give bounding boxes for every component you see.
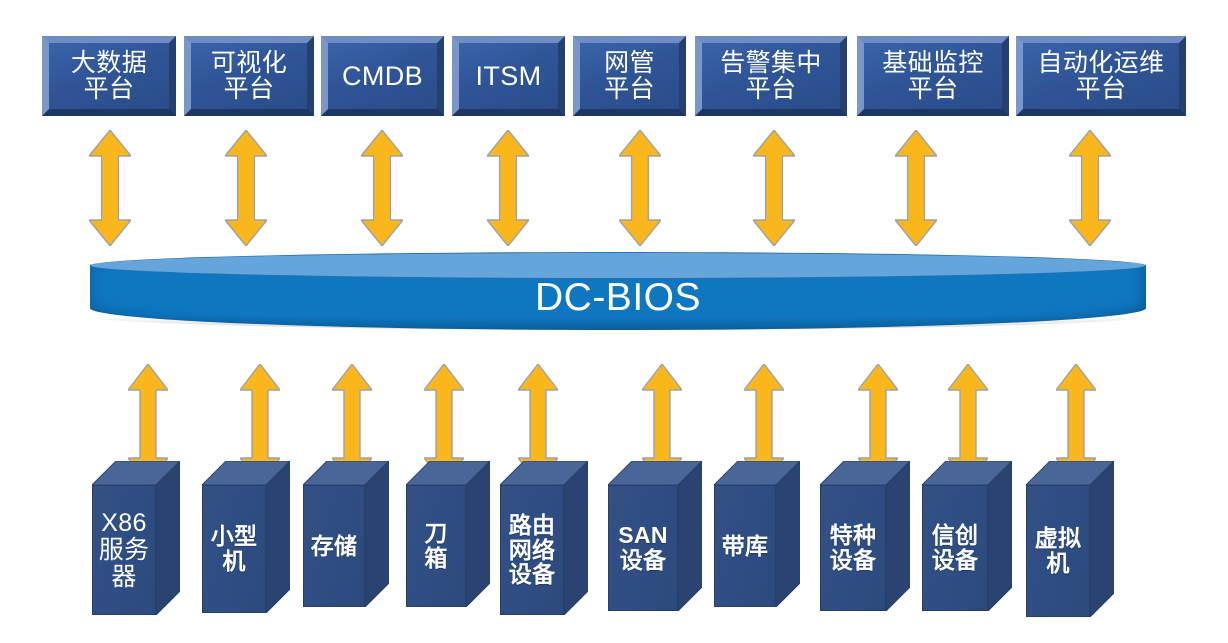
- resource-box-minicomputer[interactable]: 小型 机: [202, 461, 290, 613]
- upper-double-arrow-2: [225, 130, 267, 246]
- platform-box-label: 可视化 平台: [191, 43, 307, 109]
- resource-box-label: X86 服务 器: [92, 485, 156, 615]
- platform-box-label: 告警集中 平台: [702, 43, 840, 109]
- platform-box-cmdb[interactable]: CMDB: [321, 36, 444, 116]
- resource-box-blade-chassis[interactable]: 刀 箱: [406, 461, 490, 607]
- platform-box-alarm-centralization-platform[interactable]: 告警集中 平台: [695, 36, 847, 116]
- resource-box-special-device[interactable]: 特种 设备: [820, 461, 910, 611]
- platform-box-label: 网管 平台: [580, 43, 679, 109]
- resource-box-san-device[interactable]: SAN 设备: [608, 461, 702, 611]
- platform-box-infrastructure-monitoring-platform[interactable]: 基础监控 平台: [857, 36, 1009, 116]
- upper-double-arrow-7: [895, 130, 937, 246]
- resource-box-storage[interactable]: 存储: [303, 461, 389, 607]
- platform-box-label: 基础监控 平台: [864, 43, 1002, 109]
- upper-double-arrow-4: [487, 130, 529, 246]
- upper-double-arrow-3: [361, 130, 403, 246]
- dc-bios-label: DC-BIOS: [90, 265, 1146, 330]
- resource-box-label: 路由 网络 设备: [500, 485, 564, 615]
- platform-box-label: 自动化运维 平台: [1023, 43, 1179, 109]
- resource-box-tape-library[interactable]: 带库: [714, 461, 800, 607]
- resource-box-routing-network-device[interactable]: 路由 网络 设备: [500, 461, 588, 615]
- platform-box-visualization-platform[interactable]: 可视化 平台: [184, 36, 314, 116]
- upper-double-arrow-5: [619, 130, 661, 246]
- platform-box-automated-operations-platform[interactable]: 自动化运维 平台: [1016, 36, 1186, 116]
- platform-box-label: CMDB: [328, 43, 437, 109]
- dc-bios-cylinder[interactable]: DC-BIOS: [90, 252, 1146, 338]
- resource-box-label: 特种 设备: [820, 485, 886, 611]
- resource-box-xinchuang-device[interactable]: 信创 设备: [922, 461, 1012, 611]
- platform-box-itsm[interactable]: ITSM: [452, 36, 565, 116]
- upper-double-arrow-6: [753, 130, 795, 246]
- upper-double-arrow-8: [1069, 130, 1111, 246]
- resource-box-label: SAN 设备: [608, 485, 678, 611]
- resource-box-label: 虚拟 机: [1026, 485, 1090, 617]
- resource-box-label: 信创 设备: [922, 485, 988, 611]
- diagram-canvas: 大数据 平台可视化 平台CMDBITSM网管 平台告警集中 平台基础监控 平台自…: [0, 0, 1228, 643]
- resource-box-label: 刀 箱: [406, 485, 466, 607]
- resource-box-label: 小型 机: [202, 485, 266, 613]
- resource-box-label: 存储: [303, 485, 365, 607]
- platform-box-big-data-platform[interactable]: 大数据 平台: [42, 36, 176, 116]
- platform-box-network-management-platform[interactable]: 网管 平台: [573, 36, 686, 116]
- platform-box-label: ITSM: [459, 43, 558, 109]
- platform-box-label: 大数据 平台: [49, 43, 169, 109]
- resource-box-virtual-machine[interactable]: 虚拟 机: [1026, 461, 1114, 617]
- resource-box-label: 带库: [714, 485, 776, 607]
- resource-box-x86-server[interactable]: X86 服务 器: [92, 461, 180, 615]
- upper-double-arrow-1: [89, 130, 131, 246]
